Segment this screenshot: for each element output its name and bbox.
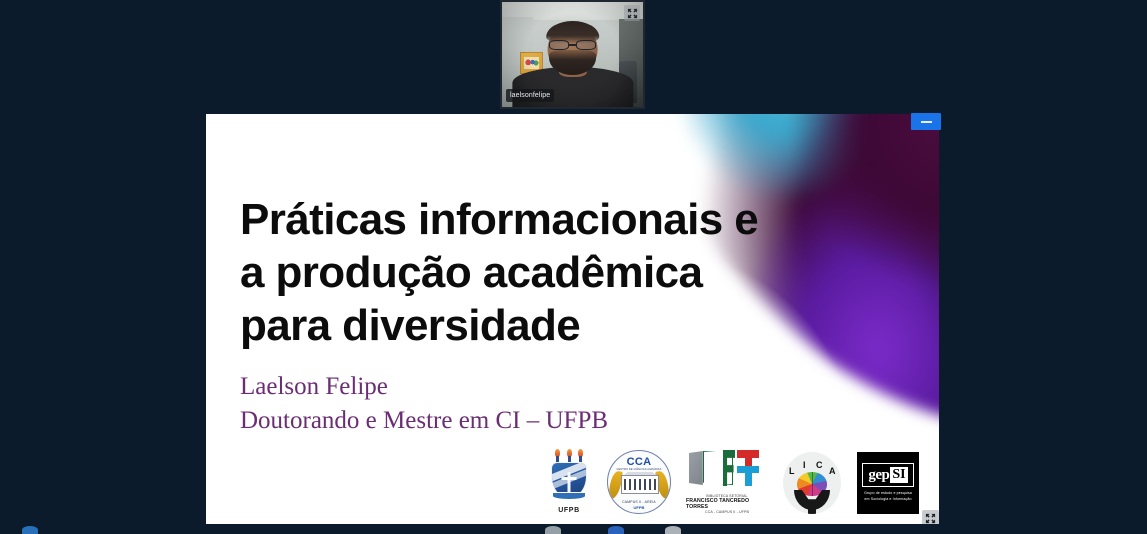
ufpb-logo-label: UFPB [558, 507, 579, 514]
lica-logo: L I C A [782, 440, 842, 514]
slide-subtitle: Laelson Felipe Doutorando e Mestre em CI… [240, 370, 760, 438]
lica-letter-l: L [789, 466, 795, 476]
gepsi-mark-left: gep [868, 467, 889, 484]
cca-building-windows [624, 479, 656, 490]
taskbar-item[interactable] [608, 526, 624, 534]
cca-logo: CCA CENTRO DE CIÊNCIAS AGRÁRIAS CAMPUS I… [606, 440, 672, 514]
ufpb-logo: UFPB [546, 440, 592, 514]
ufpb-cross-icon [568, 472, 571, 492]
cca-university-text: UFPB [608, 505, 670, 510]
taskbar-item[interactable] [22, 526, 38, 534]
presenter-affiliation: Doutorando e Mestre em CI – UFPB [240, 404, 760, 438]
gepsi-mark-right: SI [890, 467, 907, 483]
presenter-name: Laelson Felipe [240, 370, 760, 404]
taskbar-item[interactable] [665, 526, 681, 534]
minimize-icon [921, 121, 932, 123]
lica-letter-a: A [829, 466, 836, 476]
cca-subtitle: CENTRO DE CIÊNCIAS AGRÁRIAS [608, 468, 670, 471]
biblioteca-ftt-logo: BIBLIOTECA SETORIAL FRANCISCO TANCREDO T… [686, 440, 768, 514]
letter-t-blue-stem [745, 466, 752, 486]
participant-name-label: laelsonfelipe [506, 89, 554, 102]
gepsi-logo: gep SI Grupo de estudo e pesquisa em Soc… [856, 440, 920, 514]
wrist-icon [808, 504, 816, 514]
minimize-button[interactable] [911, 113, 941, 130]
gepsi-line2: em Sociologia e Informação [861, 497, 915, 501]
cca-campus-text: CAMPUS II - AREIA [608, 500, 670, 504]
lica-logo-art: L I C A [783, 452, 841, 514]
ftt-logo-art [687, 447, 767, 493]
ftt-line3: CCA - CAMPUS II - UFPB [705, 510, 749, 514]
taskbar[interactable] [0, 524, 1147, 534]
gepsi-wordmark: gep SI [862, 463, 914, 487]
screen-root: laelsonfelipe Práticas informacionais e … [0, 0, 1147, 534]
cca-acronym: CCA [608, 456, 670, 468]
cca-logo-art: CCA CENTRO DE CIÊNCIAS AGRÁRIAS CAMPUS I… [607, 450, 671, 514]
lica-letter-i: I [803, 460, 806, 470]
ftt-line2: FRANCISCO TANCREDO TORRES [686, 498, 768, 510]
taskbar-item[interactable] [545, 526, 561, 534]
lica-letter-c: C [816, 460, 823, 470]
ufpb-shield-base [552, 492, 586, 500]
slide-title: Práticas informacionais e a produção aca… [240, 194, 785, 352]
ufpb-logo-art [549, 449, 589, 505]
video-participant-tile[interactable]: laelsonfelipe [500, 0, 645, 109]
institution-logo-strip: UFPB CCA CENTRO DE CIÊNCIAS AGRÁRIAS CAM… [546, 436, 931, 514]
presentation-slide[interactable]: Práticas informacionais e a produção aca… [206, 114, 939, 524]
gepsi-line1: Grupo de estudo e pesquisa [861, 491, 915, 495]
fullscreen-expand-icon[interactable] [624, 5, 640, 21]
gepsi-logo-art: gep SI Grupo de estudo e pesquisa em Soc… [857, 452, 919, 514]
